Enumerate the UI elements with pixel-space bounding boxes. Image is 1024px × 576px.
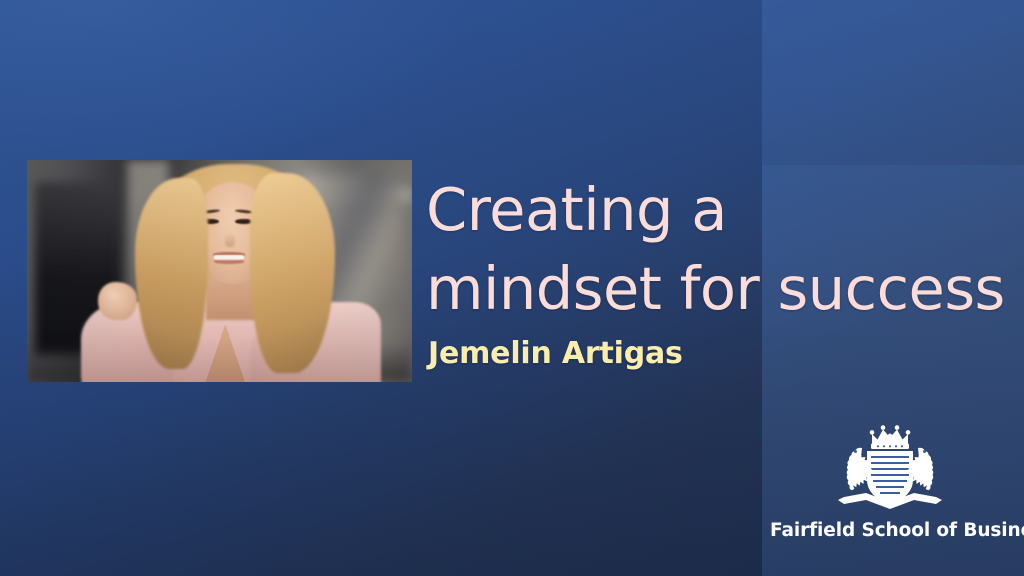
photo-vignette (27, 160, 412, 382)
background-top-left-wash (0, 0, 470, 170)
slide-title: Creating a mindset for success (426, 170, 1006, 328)
shield-stripes (871, 457, 909, 493)
title-slide: Creating a mindset for success Jemelin A… (0, 0, 1024, 576)
school-logo: Fairfield School of Business (770, 418, 1010, 541)
presenter-photo (27, 160, 412, 382)
photo-scene (27, 160, 412, 382)
school-name: Fairfield School of Business (770, 520, 1010, 541)
presenter-name: Jemelin Artigas (428, 337, 683, 370)
heraldic-crest-icon (822, 418, 958, 514)
